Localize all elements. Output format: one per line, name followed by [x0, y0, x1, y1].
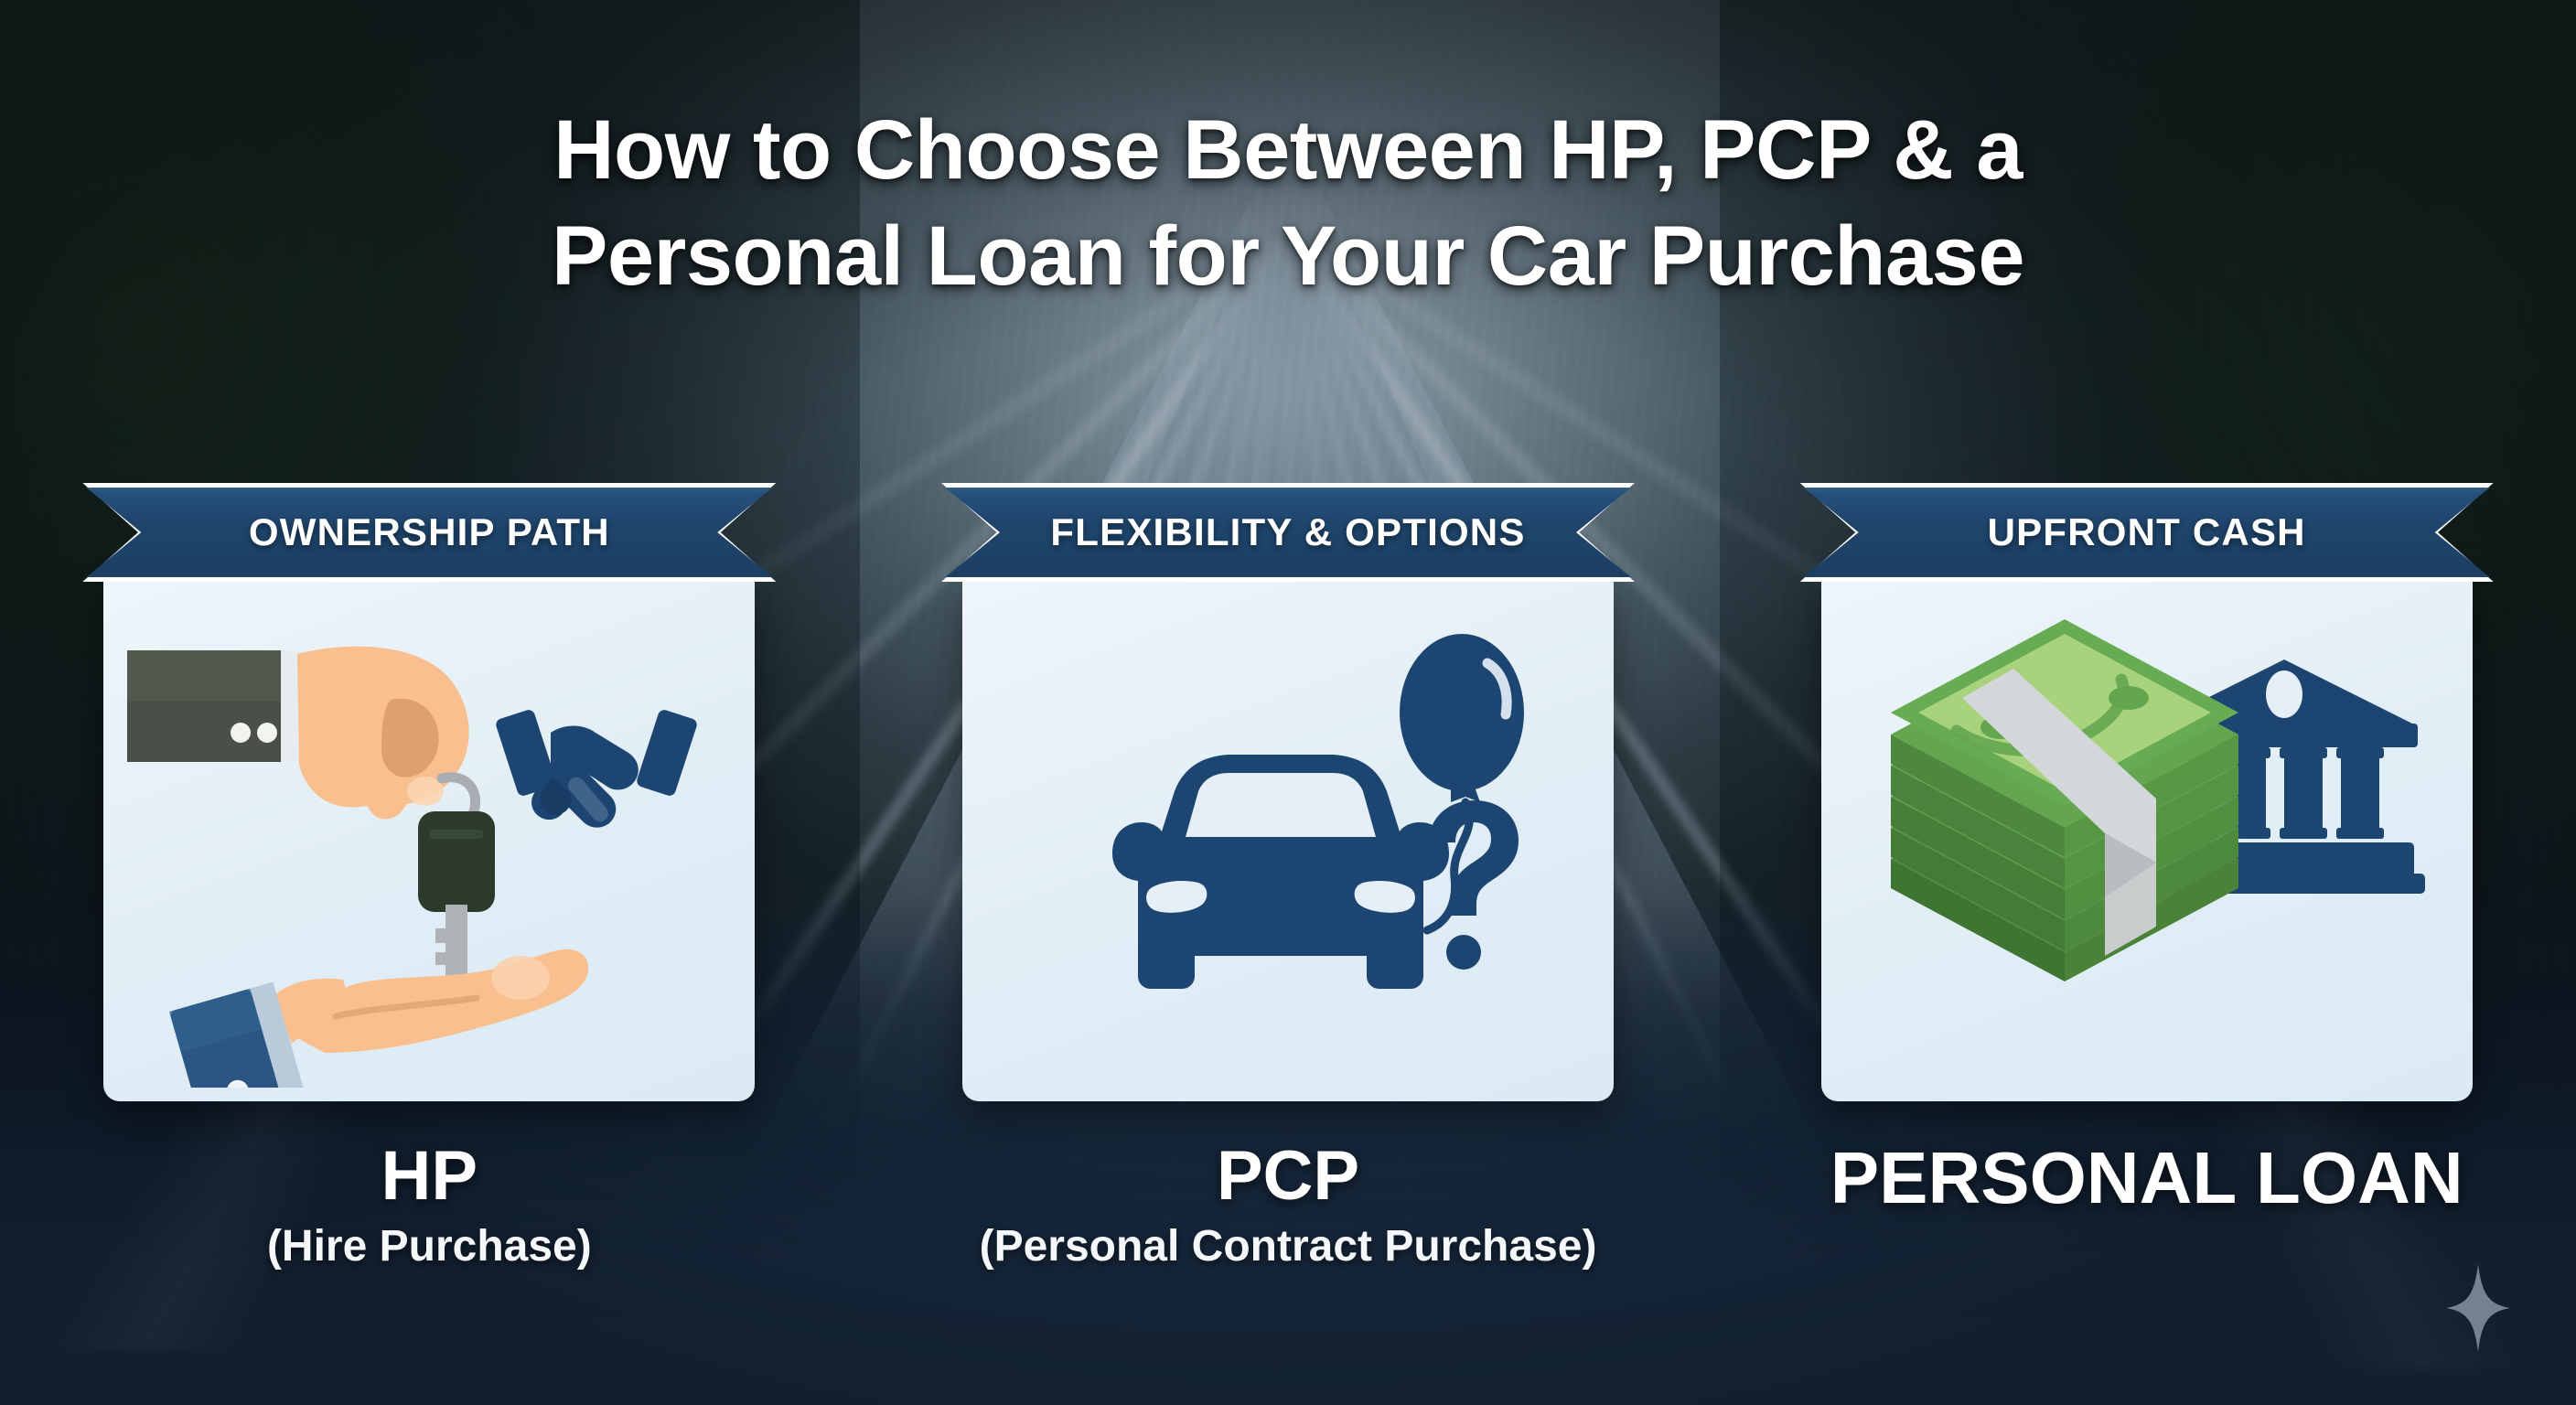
cuff-button-1: [231, 723, 251, 743]
product-name-hp: HP: [267, 1142, 592, 1211]
car-front-icon: [1112, 755, 1449, 989]
bank-oculus: [2266, 670, 2302, 718]
banner-flexibility-options: FLEXIBILITY & OPTIONS: [941, 483, 1635, 582]
handshake-icon: [495, 708, 699, 827]
banner-label-pcp: FLEXIBILITY & OPTIONS: [1050, 510, 1525, 554]
product-subtitle-pcp: (Personal Contract Purchase): [980, 1224, 1597, 1270]
banner-ownership-path: OWNERSHIP PATH: [82, 483, 776, 582]
label-block-pcp: PCP (Personal Contract Purchase): [980, 1142, 1597, 1270]
banner-label-personal-loan: UPFRONT CASH: [1988, 510, 2306, 554]
car-balloon-question-icon: [1004, 603, 1572, 1078]
column-hp: OWNERSHIP PATH: [0, 483, 859, 1270]
label-block-hp: HP (Hire Purchase): [267, 1142, 592, 1270]
infographic-canvas: How to Choose Between HP, PCP & a Person…: [0, 0, 2576, 1405]
cash-stack-icon: [1891, 619, 2238, 981]
page-title-line-1: How to Choose Between HP, PCP & a: [0, 108, 2576, 192]
column-personal-loan: UPFRONT CASH: [1717, 483, 2576, 1270]
comparison-columns: OWNERSHIP PATH: [0, 483, 2576, 1270]
question-mark-icon: [1429, 800, 1519, 970]
car-windshield: [1186, 773, 1376, 837]
hands-exchanging-car-key-icon: [127, 594, 731, 1088]
label-block-personal-loan: PERSONAL LOAN: [1830, 1142, 2463, 1228]
page-title: How to Choose Between HP, PCP & a Person…: [0, 108, 2576, 298]
product-subtitle-hp: (Hire Purchase): [267, 1224, 592, 1270]
column-pcp: FLEXIBILITY & OPTIONS: [859, 483, 1718, 1270]
cuff-button-2: [257, 723, 277, 743]
page-title-line-2: Personal Loan for Your Car Purchase: [0, 214, 2576, 298]
key-fob: [418, 811, 495, 912]
cash-stack-bank-icon: [1854, 603, 2440, 1078]
product-name-personal-loan: PERSONAL LOAN: [1830, 1142, 2463, 1215]
illustration-card-personal-loan: [1821, 580, 2473, 1101]
illustration-card-pcp: [962, 580, 1614, 1101]
banner-upfront-cash: UPFRONT CASH: [1800, 483, 2494, 582]
illustration-card-hp: [103, 580, 755, 1101]
four-point-star-sparkle-icon: [2446, 1264, 2510, 1352]
product-name-pcp: PCP: [980, 1142, 1597, 1211]
banner-label-hp: OWNERSHIP PATH: [249, 510, 610, 554]
